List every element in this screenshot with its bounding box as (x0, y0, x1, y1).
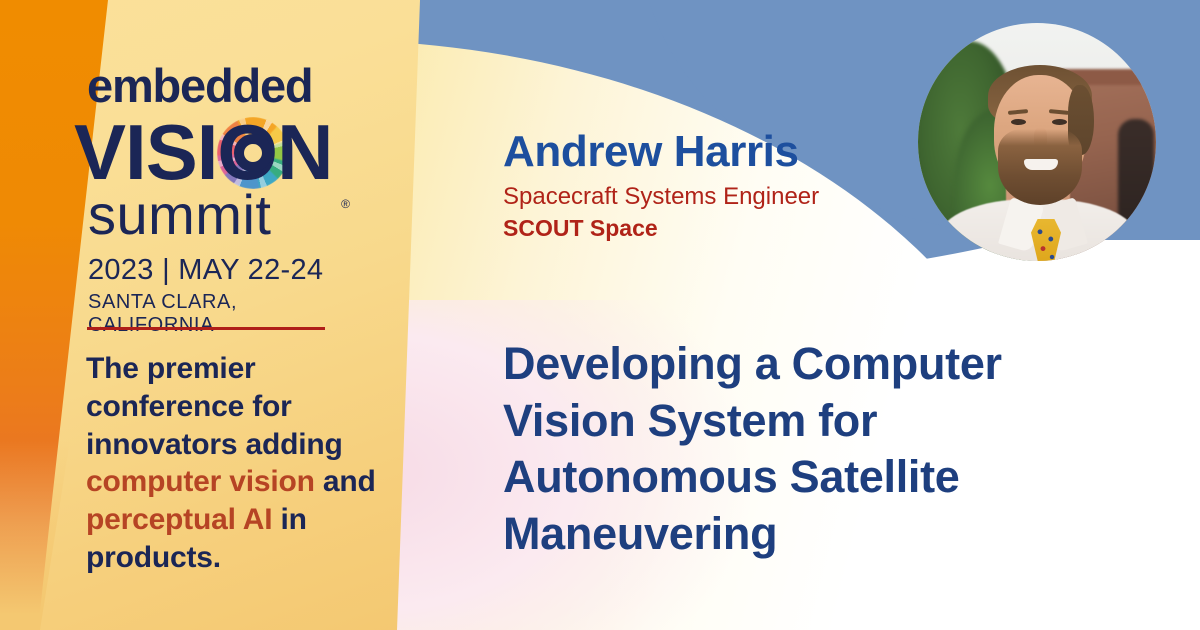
tagline-part-2: and (315, 465, 376, 498)
logo-word-summit-row: summit ® (78, 189, 348, 241)
logo-word-embedded: embedded (87, 62, 348, 109)
promo-card: embedded VISION summit ® 2023 | MAY 22-2… (0, 0, 1200, 630)
speaker-job-title: Spacecraft Systems Engineer (503, 182, 933, 212)
logo-word-vision-row: VISION (74, 111, 348, 193)
tagline-part-1: The premier conference for innovators ad… (86, 352, 343, 461)
headshot-eye-right (1052, 119, 1067, 125)
headshot-eye-left (1011, 119, 1026, 125)
logo-word-vision: VISION (74, 111, 332, 193)
tagline-highlight-computer-vision: computer vision (86, 465, 315, 498)
event-logo: embedded VISION summit ® 2023 | MAY 22-2… (78, 62, 348, 337)
event-dates: 2023 | MAY 22-24 (88, 255, 348, 285)
event-location: SANTA CLARA, CALIFORNIA (88, 291, 348, 337)
speaker-organization: SCOUT Space (503, 214, 933, 243)
logo-word-summit: summit (88, 183, 271, 246)
tagline-highlight-perceptual-ai: perceptual AI (86, 503, 272, 536)
speaker-block: Andrew Harris Spacecraft Systems Enginee… (503, 128, 933, 242)
registered-trademark-icon: ® (341, 197, 350, 211)
speaker-name: Andrew Harris (503, 128, 933, 176)
logo-o-ring-icon (234, 134, 272, 172)
event-tagline: The premier conference for innovators ad… (86, 350, 386, 577)
talk-title: Developing a Computer Vision System for … (503, 336, 1143, 563)
divider-rule (87, 327, 325, 330)
headshot-smile (1024, 159, 1058, 170)
speaker-headshot (918, 23, 1156, 261)
